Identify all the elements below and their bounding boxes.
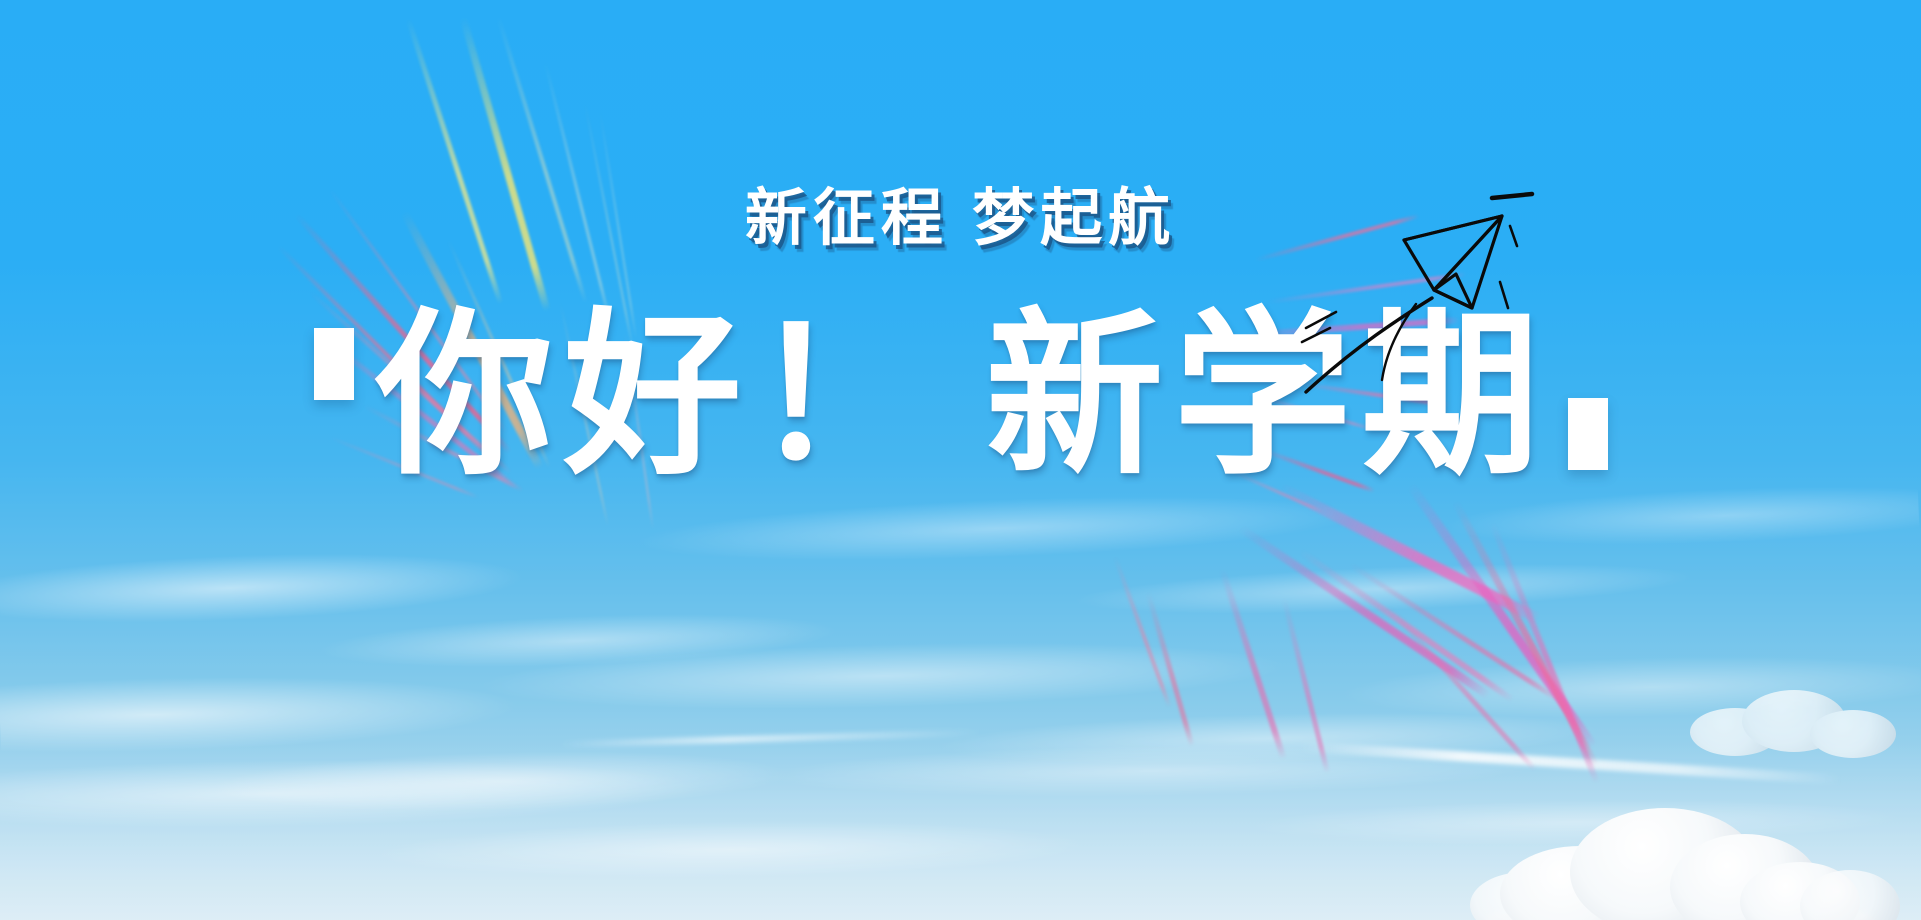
campus-banner: 新征程 梦起航 你好！ 新学期 (0, 0, 1921, 920)
horizon-haze (0, 740, 1921, 920)
